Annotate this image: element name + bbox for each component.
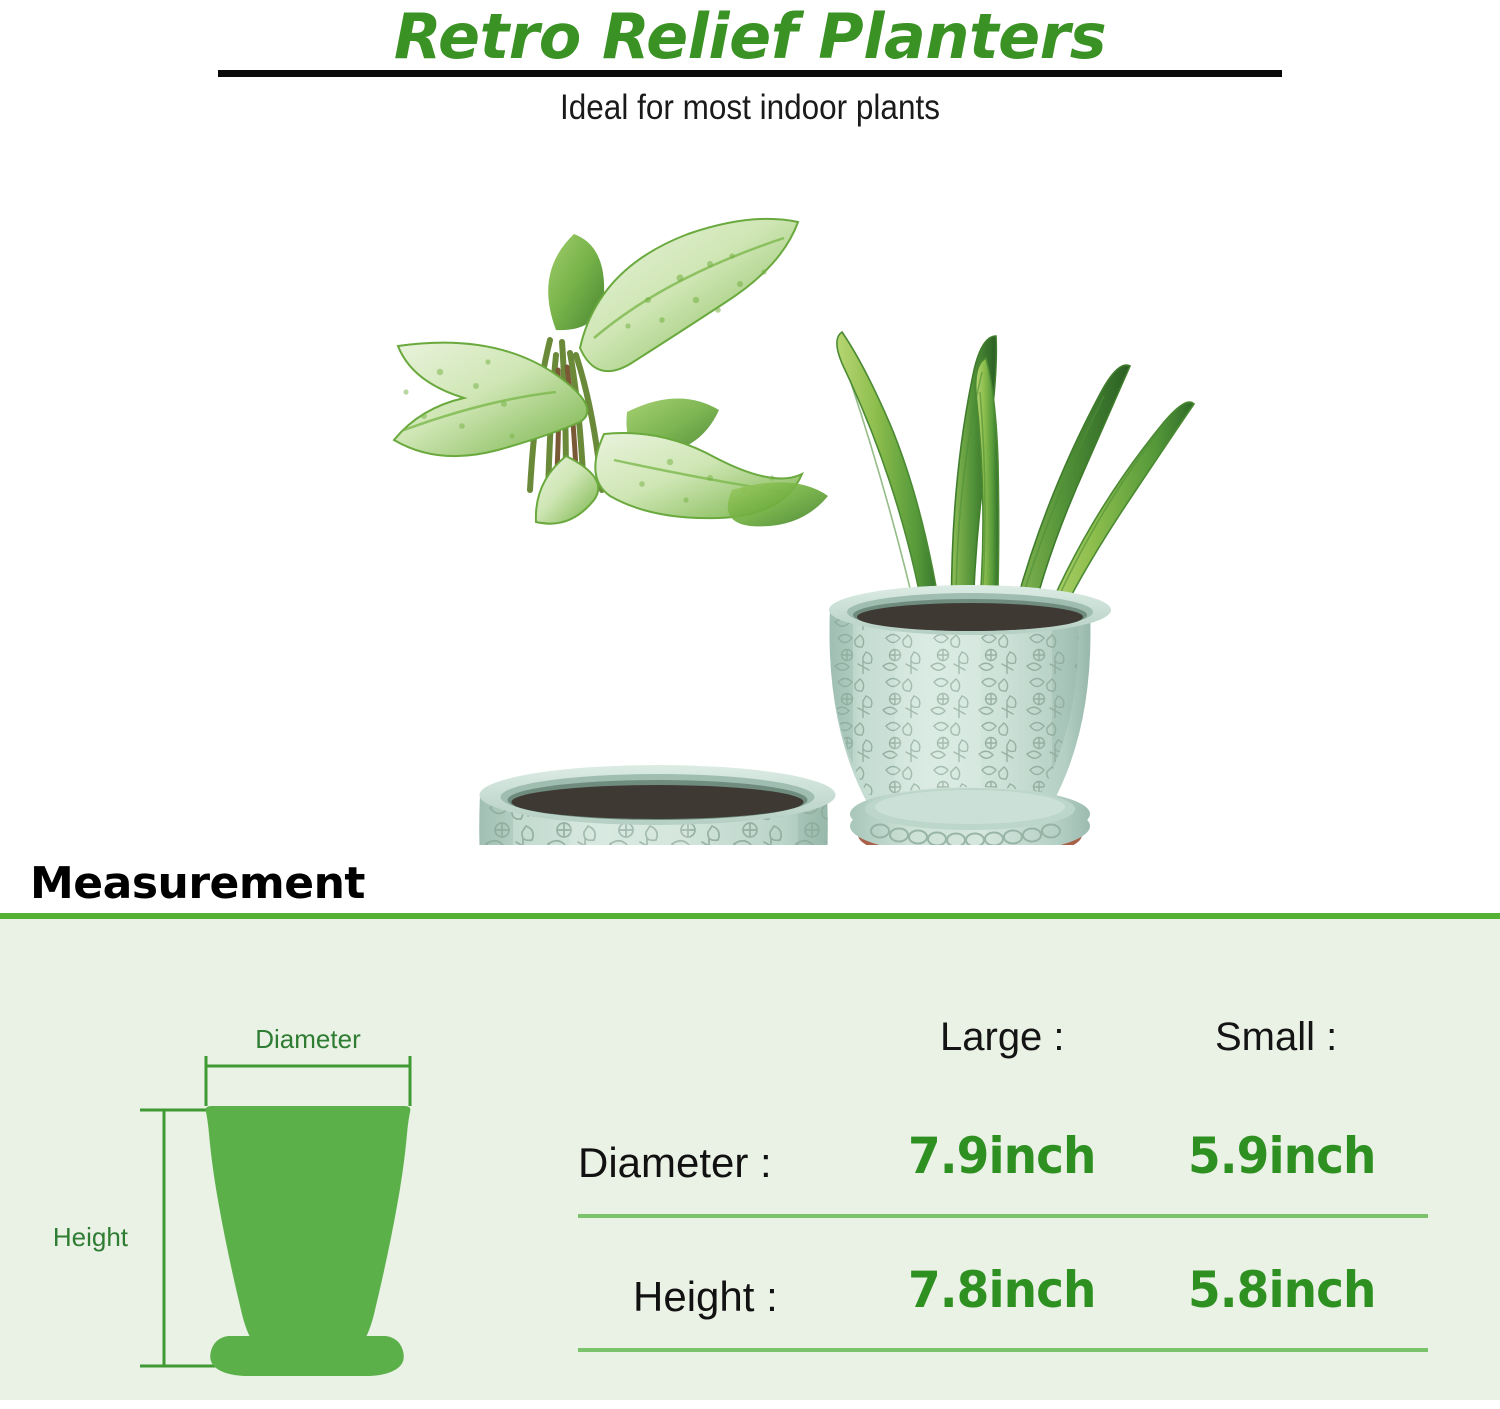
height-value-small: 5.8inch [1188,1261,1376,1319]
measurement-section: Measurement [0,845,1500,1400]
plant-arrowhead [394,219,828,527]
product-photo [0,140,1500,845]
title-divider [218,70,1282,77]
measurement-heading: Measurement [30,857,365,911]
row-label-height: Height : [633,1273,778,1321]
diameter-label: Diameter [255,1024,361,1054]
small-planter-pot [825,585,1111,845]
specification-table: Large : Small : Diameter : 7.9inch 5.9in… [560,997,1460,1397]
row-label-diameter: Diameter : [578,1139,772,1187]
measurement-panel: Diameter Height Large : Small : Diameter… [0,919,1500,1400]
column-header-large: Large : [940,1015,1065,1060]
pot-silhouette-icon [206,1106,411,1376]
height-label: Height [53,1222,129,1252]
large-planter-pot [475,765,836,845]
diameter-value-small: 5.9inch [1188,1127,1376,1185]
diameter-value-large: 7.9inch [908,1127,1096,1185]
header-banner: Retro Relief Planters Ideal for most ind… [0,0,1500,140]
page-title: Retro Relief Planters [0,2,1500,72]
table-row: Diameter : 7.9inch 5.9inch [578,1119,1428,1229]
diameter-dimension-line [206,1056,410,1106]
column-header-small: Small : [1215,1015,1337,1060]
row-underline [578,1348,1428,1352]
table-row: Height : 7.8inch 5.8inch [578,1253,1428,1363]
row-underline [578,1214,1428,1218]
pot-dimension-diagram: Diameter Height [40,1014,520,1404]
page-subtitle: Ideal for most indoor plants [75,86,1425,130]
small-planter-saucer [850,787,1090,845]
height-value-large: 7.8inch [908,1261,1096,1319]
